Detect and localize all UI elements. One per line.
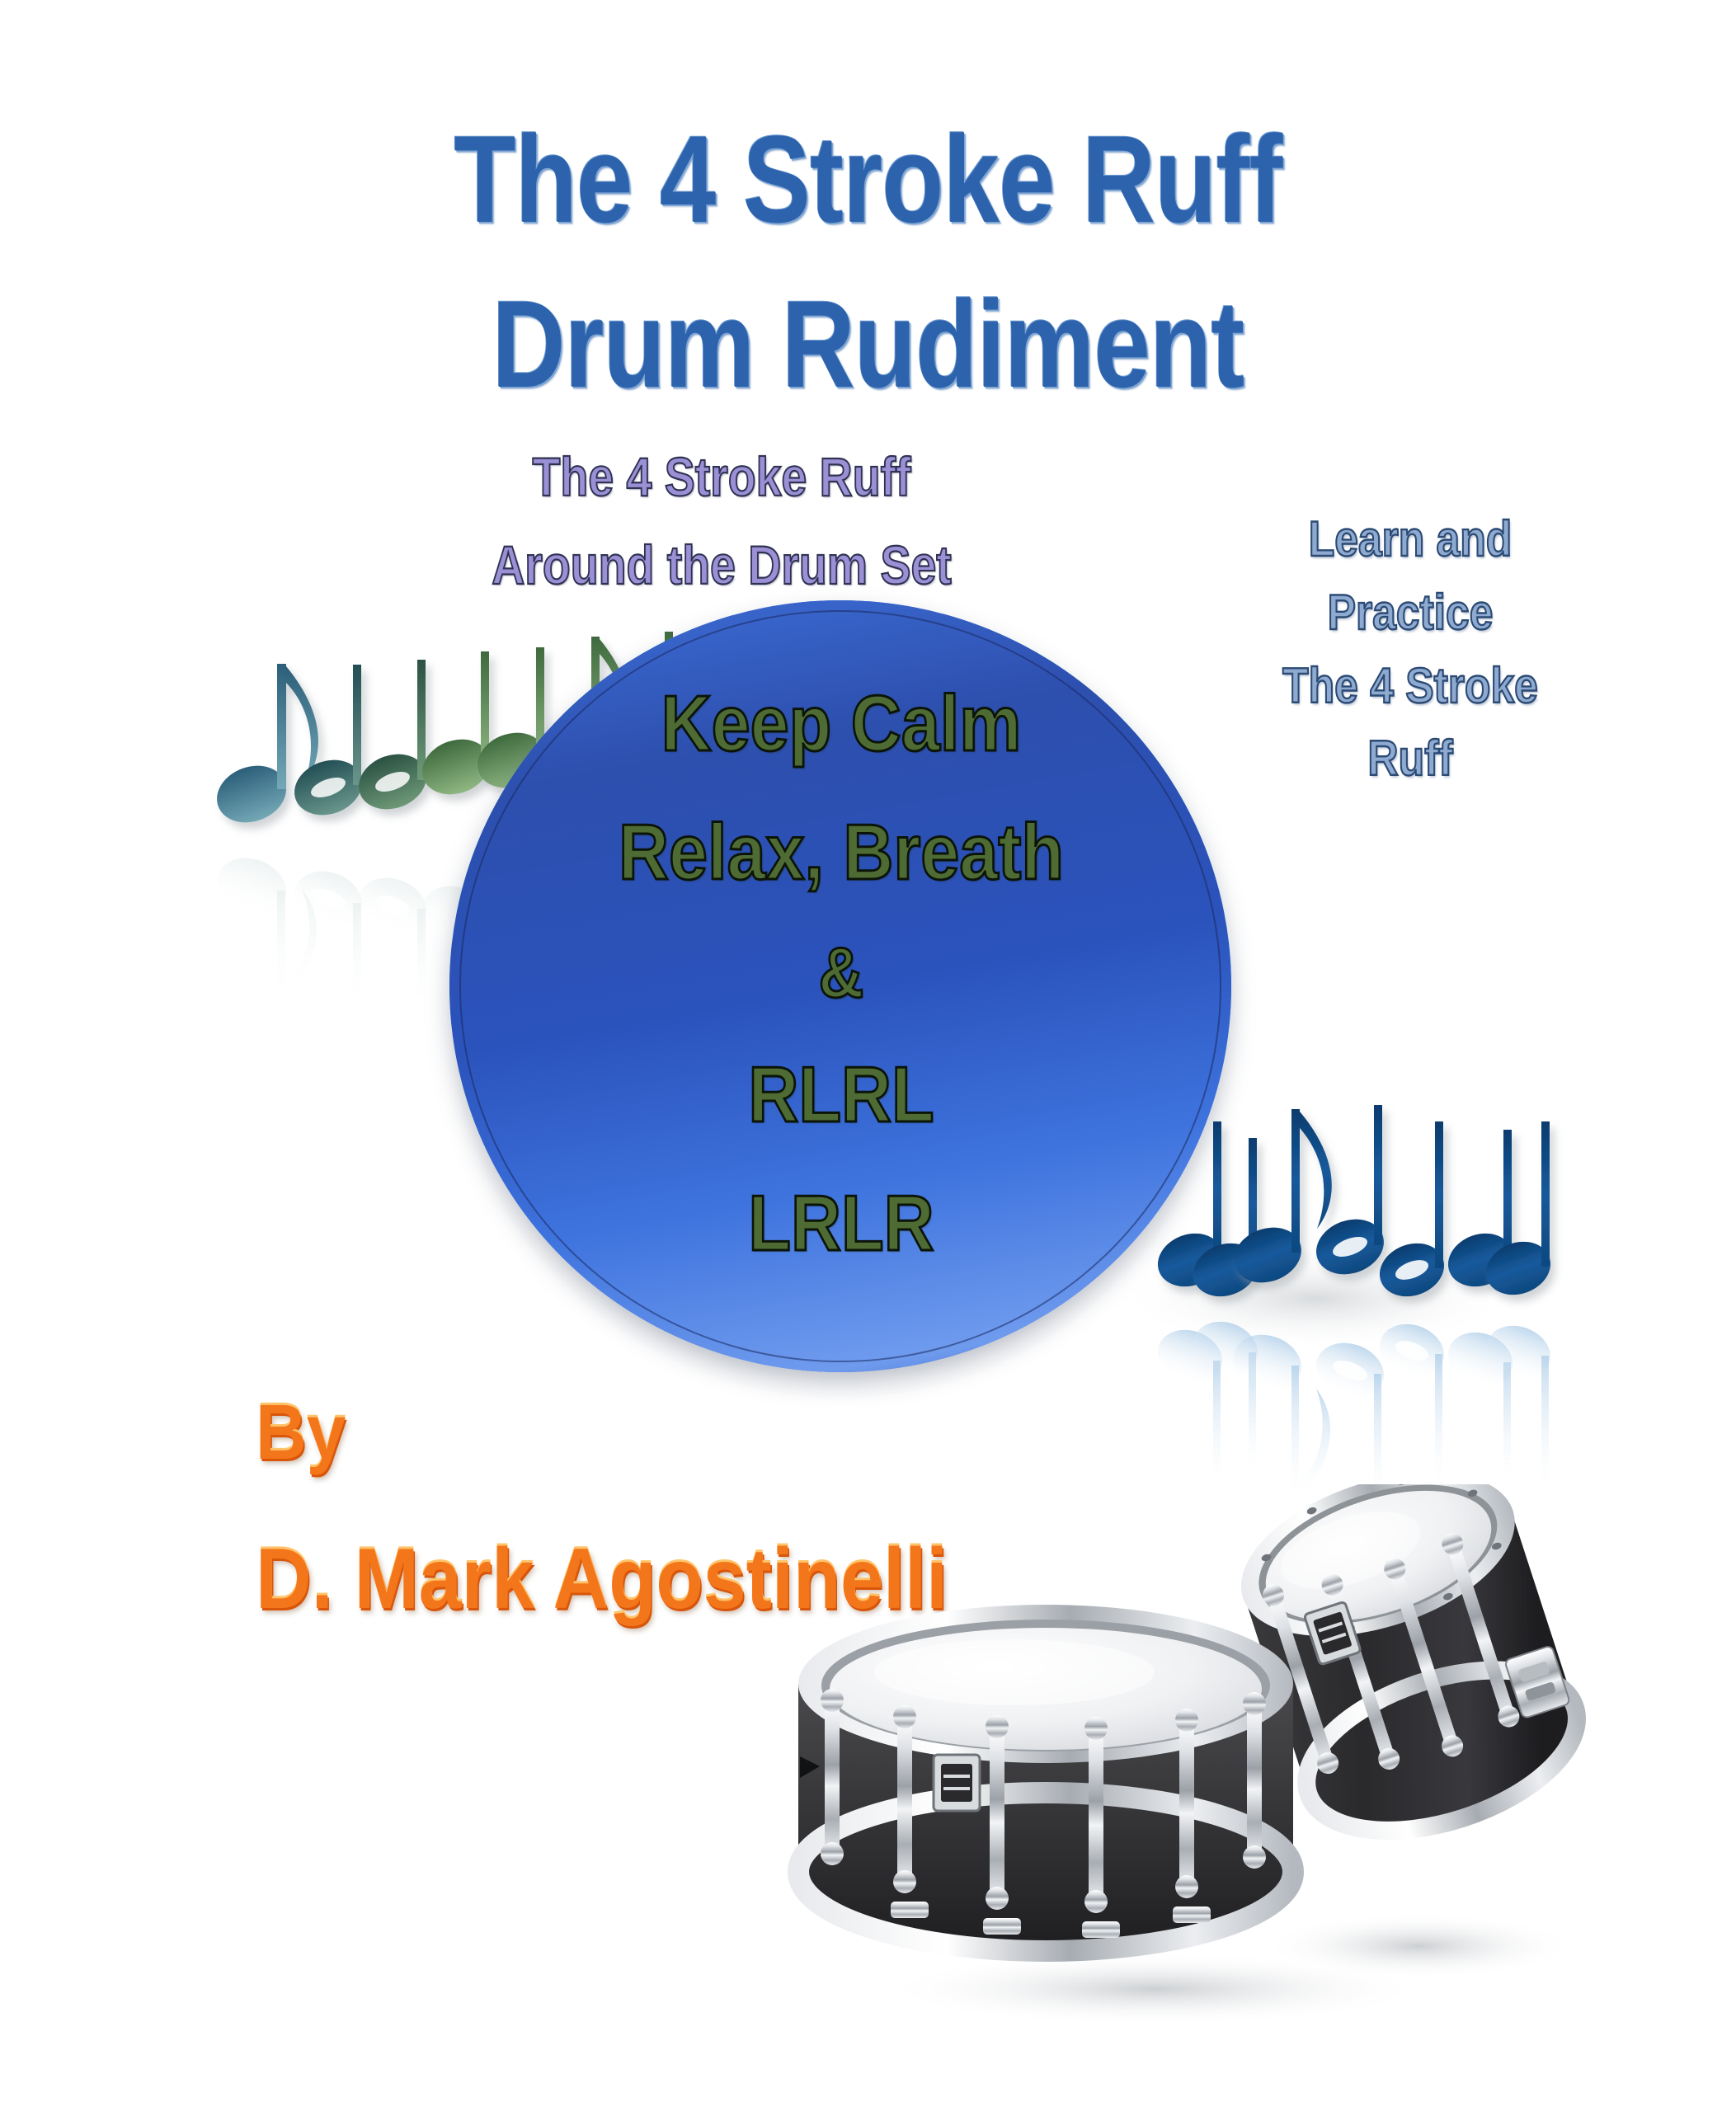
music-note-icon <box>287 665 370 824</box>
drum-badge <box>934 1755 980 1811</box>
music-note-icon <box>1479 1121 1558 1304</box>
page-title: The 4 Stroke Ruff Drum Rudiment <box>0 97 1736 426</box>
music-note-icon <box>415 651 498 803</box>
promo-line-2: Practice <box>1268 576 1552 650</box>
music-note-icon <box>1372 1121 1451 1305</box>
promo-text: Learn and Practice The 4 Stroke Ruff <box>1245 503 1575 796</box>
subtitle-line-1: The 4 Stroke Ruff <box>323 433 1120 521</box>
promo-line-4: Ruff <box>1268 722 1552 796</box>
music-note-icon <box>1226 1109 1332 1291</box>
snare-drum-icon <box>798 1605 1293 1951</box>
book-cover: Keep Calm Relax, Breath & RLRL LRLR <box>0 0 1736 2111</box>
music-note-icon <box>1309 1105 1392 1283</box>
music-note-icon <box>351 660 435 818</box>
promo-line-3: The 4 Stroke <box>1268 650 1552 723</box>
music-note-icon <box>1441 1130 1520 1295</box>
note-reflection <box>1150 1313 1558 1511</box>
promo-line-1: Learn and <box>1268 503 1552 576</box>
author-by-label: By <box>256 1394 998 1472</box>
subtitle-line-2: Around the Drum Set <box>323 521 1120 609</box>
title-line-1: The 4 Stroke Ruff <box>156 97 1579 262</box>
title-line-2: Drum Rudiment <box>156 262 1579 427</box>
snare-drums-image <box>767 1484 1592 2029</box>
music-note-icon <box>209 664 318 832</box>
subtitle: The 4 Stroke Ruff Around the Drum Set <box>247 433 1196 609</box>
drumhead-circle-inner-rim <box>459 610 1221 1362</box>
